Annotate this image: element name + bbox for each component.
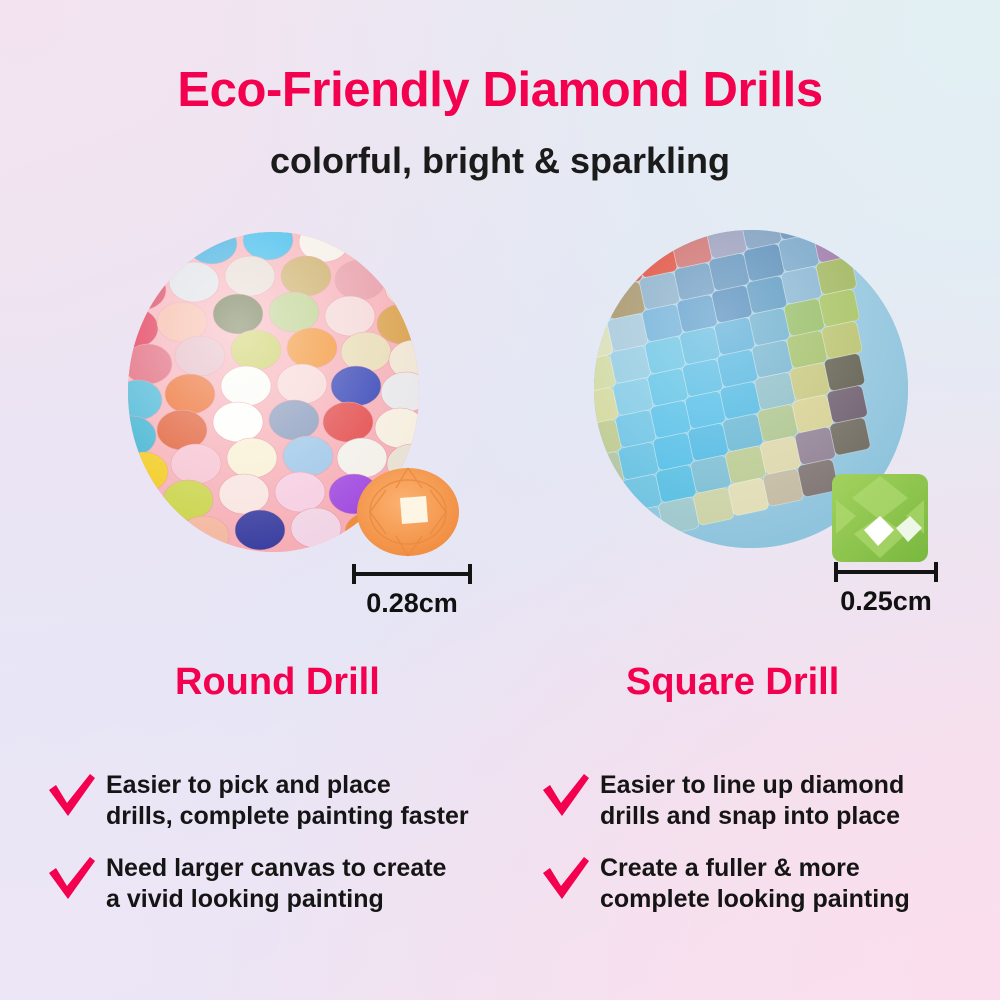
list-item-label: Easier to line up diamond drills and sna… xyxy=(592,770,904,831)
page-subtitle: colorful, bright & sparkling xyxy=(0,140,1000,182)
list-item-label: Need larger canvas to create a vivid loo… xyxy=(98,853,446,914)
list-item-line2: a vivid looking painting xyxy=(106,884,446,915)
square-drill-sample-gem xyxy=(830,472,930,564)
check-icon xyxy=(540,855,592,901)
round-drill-sample-gem xyxy=(356,466,460,558)
square-drill-feature-list: Easier to line up diamond drills and sna… xyxy=(540,770,990,936)
round-drill-scale: 0.28cm xyxy=(352,564,472,619)
square-drill-heading: Square Drill xyxy=(626,661,839,704)
list-item-line2: drills and snap into place xyxy=(600,801,904,832)
page-title: Eco-Friendly Diamond Drills xyxy=(0,62,1000,118)
check-icon xyxy=(46,772,98,818)
round-drill-measurement: 0.28cm xyxy=(352,588,472,619)
square-drill-measurement: 0.25cm xyxy=(834,586,938,617)
list-item-line1: Need larger canvas to create xyxy=(106,854,446,882)
round-drill-heading: Round Drill xyxy=(175,661,380,704)
list-item-line2: complete looking painting xyxy=(600,884,910,915)
infographic-poster: Eco-Friendly Diamond Drills colorful, br… xyxy=(0,0,1000,1000)
check-icon xyxy=(540,772,592,818)
list-item-line2: drills, complete painting faster xyxy=(106,801,469,832)
list-item-line1: Easier to pick and place xyxy=(106,771,391,799)
list-item-label: Create a fuller & more complete looking … xyxy=(592,853,910,914)
list-item: Need larger canvas to create a vivid loo… xyxy=(46,853,516,914)
scale-bar-icon xyxy=(834,562,938,580)
list-item: Easier to line up diamond drills and sna… xyxy=(540,770,990,831)
list-item-line1: Create a fuller & more xyxy=(600,854,860,882)
scale-bar-icon xyxy=(352,564,472,582)
list-item: Create a fuller & more complete looking … xyxy=(540,853,990,914)
list-item-line1: Easier to line up diamond xyxy=(600,771,904,799)
check-icon xyxy=(46,855,98,901)
square-drill-scale: 0.25cm xyxy=(834,562,938,617)
list-item-label: Easier to pick and place drills, complet… xyxy=(98,770,469,831)
round-drill-feature-list: Easier to pick and place drills, complet… xyxy=(46,770,516,936)
list-item: Easier to pick and place drills, complet… xyxy=(46,770,516,831)
